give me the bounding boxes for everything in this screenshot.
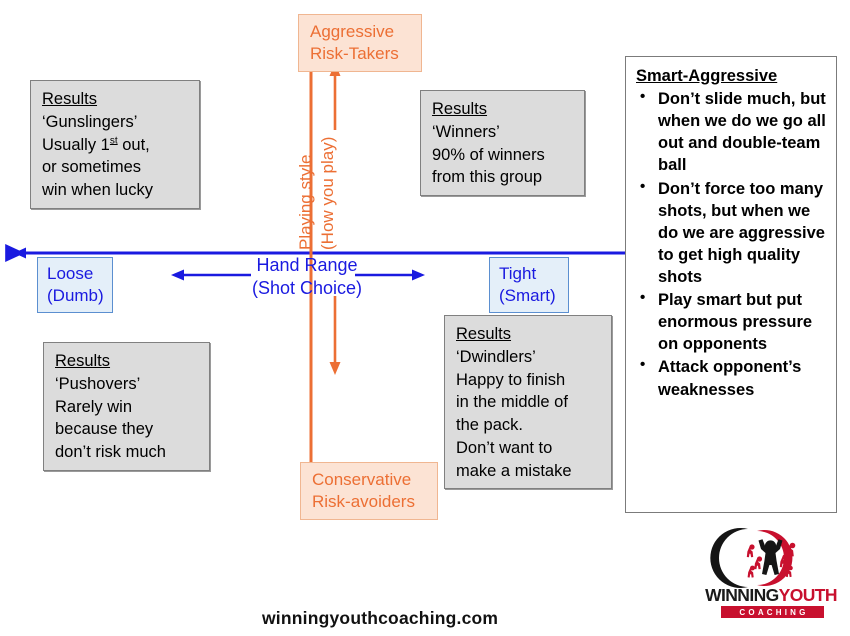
bullet-3-line-1: Play smart but xyxy=(658,291,772,309)
bullet-2-line-6: shots xyxy=(658,268,702,286)
vertical-axis-title-line-2: (How you play) xyxy=(318,137,338,250)
dwindlers-line-2: Happy to finish xyxy=(456,369,602,392)
axis-label-loose-dumb: Loose (Dumb) xyxy=(37,257,113,313)
dwindlers-line-6: make a mistake xyxy=(456,460,602,483)
bullet-glyph-icon: • xyxy=(640,177,645,197)
bullet-item: • Play smart but put enormous pressure o… xyxy=(636,289,830,355)
slide-canvas: Aggressive Risk-Takers Conservative Risk… xyxy=(0,0,850,636)
winners-header: Results xyxy=(432,98,575,121)
footer-url: winningyouthcoaching.com xyxy=(262,608,498,629)
axis-label-aggressive-risk-takers: Aggressive Risk-Takers xyxy=(298,14,422,72)
winners-line-1: ‘Winners’ xyxy=(432,121,575,144)
gunslingers-header: Results xyxy=(42,88,190,111)
bullet-item: • Don’t slide much, but when we do we go… xyxy=(636,88,830,176)
gunslingers-line-2: Usually 1st out, xyxy=(42,134,190,157)
aggressive-line-2: Risk-Takers xyxy=(310,43,411,65)
bullet-3-line-4: opponents xyxy=(683,335,767,353)
result-box-winners: Results ‘Winners’ 90% of winners from th… xyxy=(420,90,585,196)
pushovers-line-2: Rarely win xyxy=(55,396,200,419)
winners-line-2: 90% of winners xyxy=(432,144,575,167)
winning-youth-coaching-logo: WINNINGYOUTH COACHING xyxy=(696,525,846,625)
pushovers-header: Results xyxy=(55,350,200,373)
gunslingers-line-3: or sometimes xyxy=(42,156,190,179)
pushovers-line-3: because they xyxy=(55,418,200,441)
bullet-1-line-1: Don’t slide much, xyxy=(658,90,796,108)
result-box-pushovers: Results ‘Pushovers’ Rarely win because t… xyxy=(43,342,210,471)
gunslingers-line-1: ‘Gunslingers’ xyxy=(42,111,190,134)
logo-word-winning: WINNING xyxy=(705,585,779,605)
bullet-glyph-icon: • xyxy=(640,288,645,308)
dwindlers-line-1: ‘Dwindlers’ xyxy=(456,346,602,369)
horizontal-axis-title: Hand Range (Shot Choice) xyxy=(237,254,377,300)
smart-aggressive-bullet-list: • Don’t slide much, but when we do we go… xyxy=(636,88,830,401)
tight-line-1: Tight xyxy=(499,263,560,285)
vertical-axis-title-line-1: Playing style xyxy=(296,155,316,250)
conservative-line-2: Risk-avoiders xyxy=(312,491,427,513)
dwindlers-line-5: Don’t want to xyxy=(456,437,602,460)
pushovers-line-1: ‘Pushovers’ xyxy=(55,373,200,396)
dwindlers-line-3: in the middle of xyxy=(456,391,602,414)
winners-line-3: from this group xyxy=(432,166,575,189)
bullet-2-line-1: Don’t force too xyxy=(658,180,775,198)
axis-label-tight-smart: Tight (Smart) xyxy=(489,257,569,313)
bullet-glyph-icon: • xyxy=(640,355,645,375)
result-box-dwindlers: Results ‘Dwindlers’ Happy to finish in t… xyxy=(444,315,612,489)
logo-wordmark: WINNINGYOUTH xyxy=(696,587,846,605)
gunslingers-line-4: win when lucky xyxy=(42,179,190,202)
bullet-4-line-1: Attack opponent’s xyxy=(658,358,801,376)
horizontal-axis-title-line-1: Hand Range xyxy=(237,254,377,277)
smart-aggressive-header: Smart-Aggressive xyxy=(636,65,830,87)
tight-line-2: (Smart) xyxy=(499,285,560,307)
dwindlers-line-4: the pack. xyxy=(456,414,602,437)
vertical-axis-title: Playing style xyxy=(296,250,297,251)
logo-tagline-coaching: COACHING xyxy=(721,606,824,618)
pushovers-line-4: don’t risk much xyxy=(55,441,200,464)
axis-label-conservative-risk-avoiders: Conservative Risk-avoiders xyxy=(300,462,438,520)
dwindlers-header: Results xyxy=(456,323,602,346)
result-box-gunslingers: Results ‘Gunslingers’ Usually 1st out, o… xyxy=(30,80,200,209)
horizontal-axis-title-line-2: (Shot Choice) xyxy=(237,277,377,300)
smart-aggressive-panel: Smart-Aggressive • Don’t slide much, but… xyxy=(625,56,837,513)
conservative-line-1: Conservative xyxy=(312,469,427,491)
bullet-2-line-5: get high quality xyxy=(678,246,800,264)
bullet-4-line-2: weaknesses xyxy=(658,381,754,399)
bullet-item: • Don’t force too many shots, but when w… xyxy=(636,178,830,289)
logo-word-youth: YOUTH xyxy=(779,585,837,605)
loose-line-2: (Dumb) xyxy=(47,285,104,307)
bullet-item: • Attack opponent’s weaknesses xyxy=(636,356,830,400)
vertical-axis-subtitle: (How you play) xyxy=(318,250,319,251)
logo-mark-icon xyxy=(696,525,846,591)
bullet-glyph-icon: • xyxy=(640,87,645,107)
aggressive-line-1: Aggressive xyxy=(310,21,411,43)
loose-line-1: Loose xyxy=(47,263,104,285)
